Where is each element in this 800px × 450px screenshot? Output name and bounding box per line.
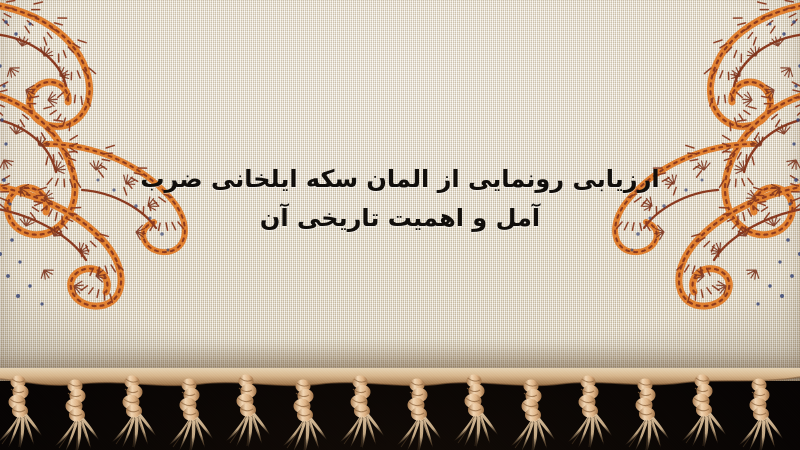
page-title-line-1: ارزیابی رونمایی از المان سکه ایلخانی ضرب	[0, 160, 800, 199]
cloth-hem-edge	[0, 366, 800, 388]
page-title-line-2: آمل و اهمیت تاریخی آن	[0, 199, 800, 238]
page-title: ارزیابی رونمایی از المان سکه ایلخانی ضرب…	[0, 160, 800, 238]
title-card: ارزیابی رونمایی از المان سکه ایلخانی ضرب…	[0, 0, 800, 450]
